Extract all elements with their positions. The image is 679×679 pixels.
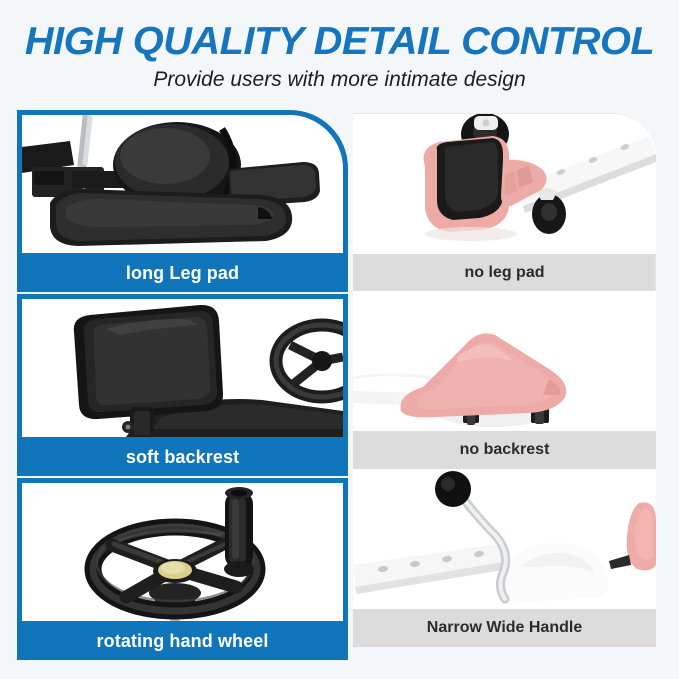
featured-caption-leg-pad: long Leg pad bbox=[17, 254, 348, 292]
competitor-photo-narrow-handle bbox=[353, 469, 656, 609]
header: HIGH QUALITY DETAIL CONTROL Provide user… bbox=[0, 0, 679, 104]
backrest-icon bbox=[22, 299, 343, 437]
page-subtitle: Provide users with more intimate design bbox=[0, 68, 679, 92]
featured-panel-leg-pad[interactable]: long Leg pad bbox=[17, 110, 348, 292]
featured-panel-backrest[interactable]: soft backrest bbox=[17, 294, 348, 476]
featured-caption-backrest: soft backrest bbox=[17, 438, 348, 476]
leg-pad-icon bbox=[22, 115, 343, 253]
featured-photo-backrest bbox=[22, 299, 343, 437]
narrow-handle-icon bbox=[353, 469, 656, 609]
featured-panel-hand-wheel[interactable]: rotating hand wheel bbox=[17, 478, 348, 660]
featured-photo-hand-wheel bbox=[22, 483, 343, 621]
competitor-caption-no-leg-pad: no leg pad bbox=[353, 254, 656, 292]
competitor-panel-narrow-handle[interactable]: Narrow Wide Handle bbox=[353, 469, 656, 647]
no-leg-pad-icon bbox=[353, 114, 656, 254]
page-title: HIGH QUALITY DETAIL CONTROL bbox=[0, 20, 679, 64]
no-backrest-icon bbox=[353, 291, 656, 431]
featured-photo-leg-pad bbox=[22, 115, 343, 253]
featured-caption-hand-wheel: rotating hand wheel bbox=[17, 622, 348, 660]
competitor-panel-no-backrest[interactable]: no backrest bbox=[353, 291, 656, 469]
competitor-panel-no-leg-pad[interactable]: no leg pad bbox=[353, 113, 656, 291]
hand-wheel-icon bbox=[22, 483, 343, 621]
featured-product-column: long Leg pad bbox=[17, 110, 348, 660]
competitor-caption-narrow-handle: Narrow Wide Handle bbox=[353, 609, 656, 647]
competitor-caption-no-backrest: no backrest bbox=[353, 431, 656, 469]
competitor-photo-no-backrest bbox=[353, 291, 656, 431]
competitor-photo-no-leg-pad bbox=[353, 114, 656, 254]
competitor-product-column: no leg pad bbox=[353, 113, 656, 647]
